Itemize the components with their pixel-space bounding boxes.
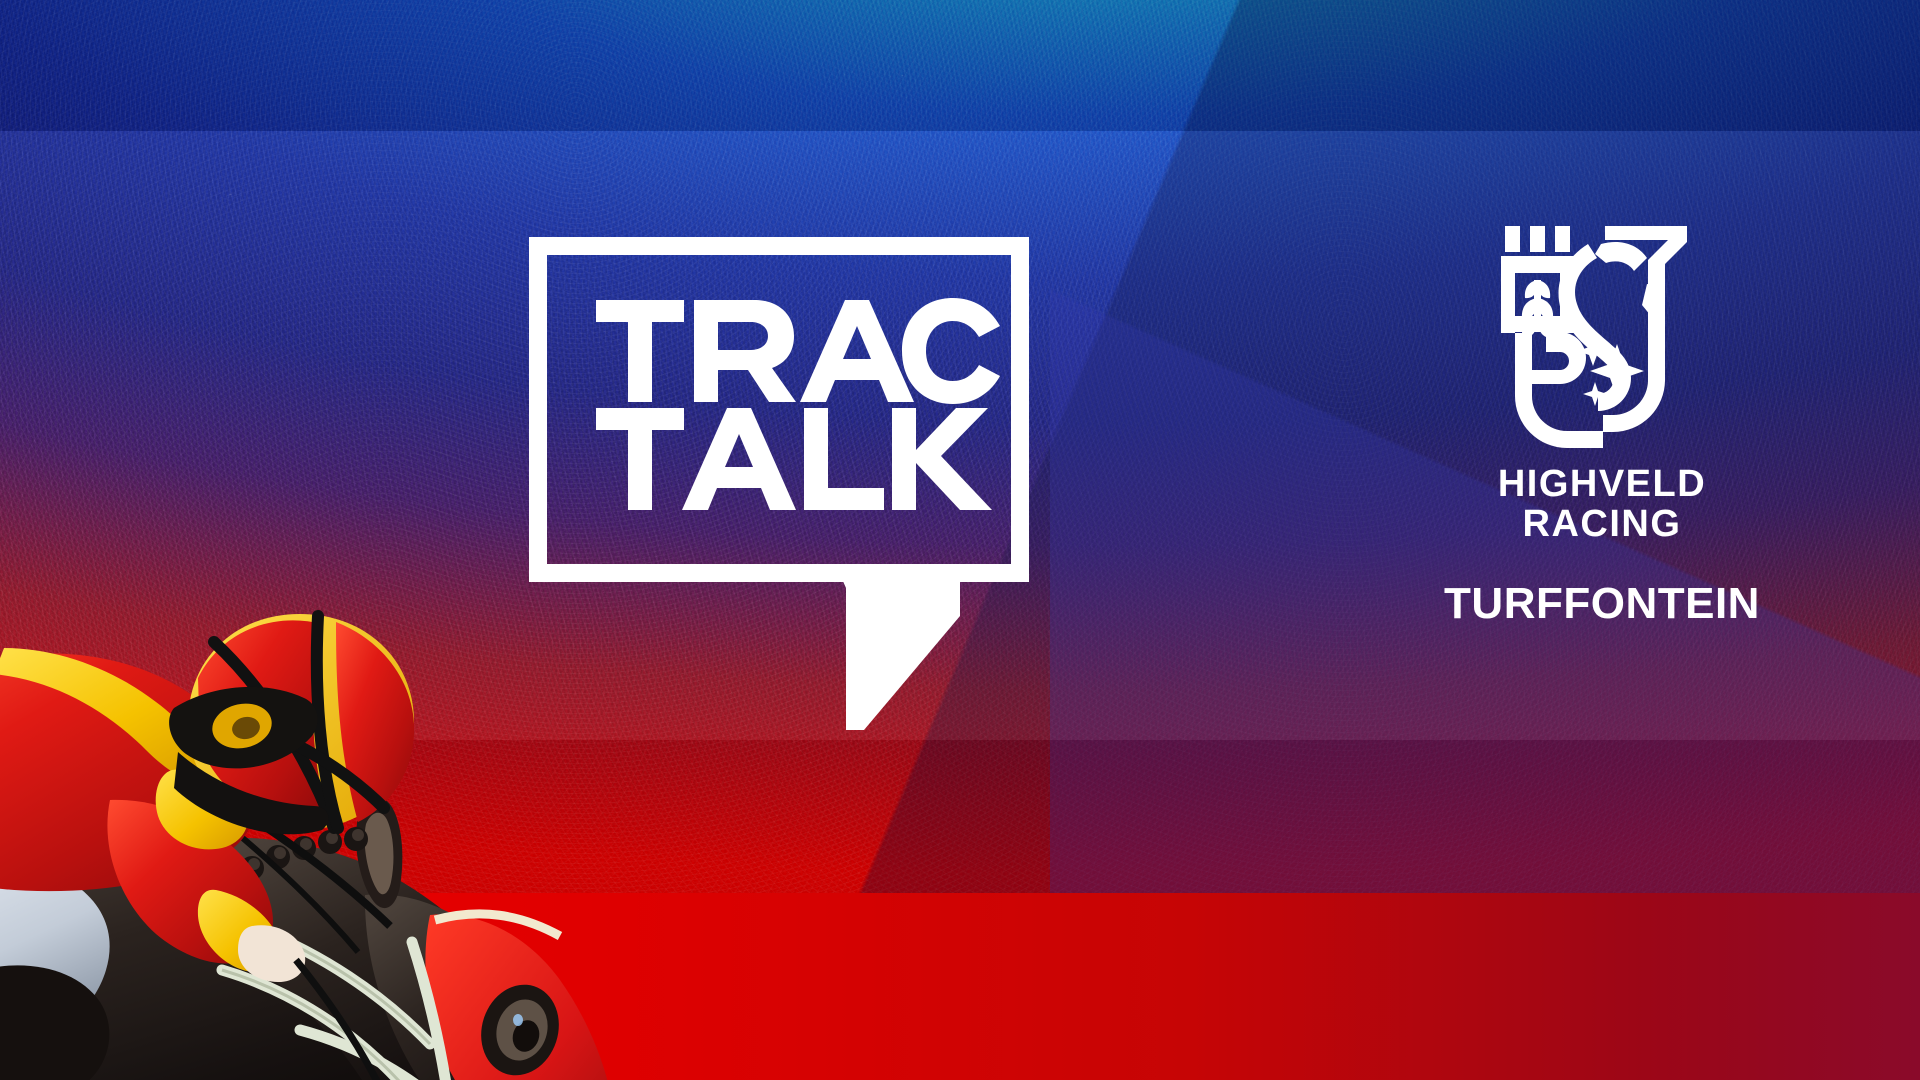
highveld-racing-lockup: HIGHVELD RACING TURFFONTEIN [1437,222,1767,629]
track-talk-wordmark [596,300,996,510]
partner-name-line-1: HIGHVELD [1437,465,1767,505]
promo-banner: HIGHVELD RACING TURFFONTEIN [0,0,1920,1080]
wordmark-line-1 [596,300,996,402]
band-top [0,0,1920,131]
partner-name-line-2: RACING [1437,505,1767,545]
highveld-racing-shield-icon [1437,222,1767,453]
partner-name: HIGHVELD RACING [1437,465,1767,545]
venue-name: TURFFONTEIN [1437,579,1767,629]
wordmark-line-2 [596,408,996,510]
